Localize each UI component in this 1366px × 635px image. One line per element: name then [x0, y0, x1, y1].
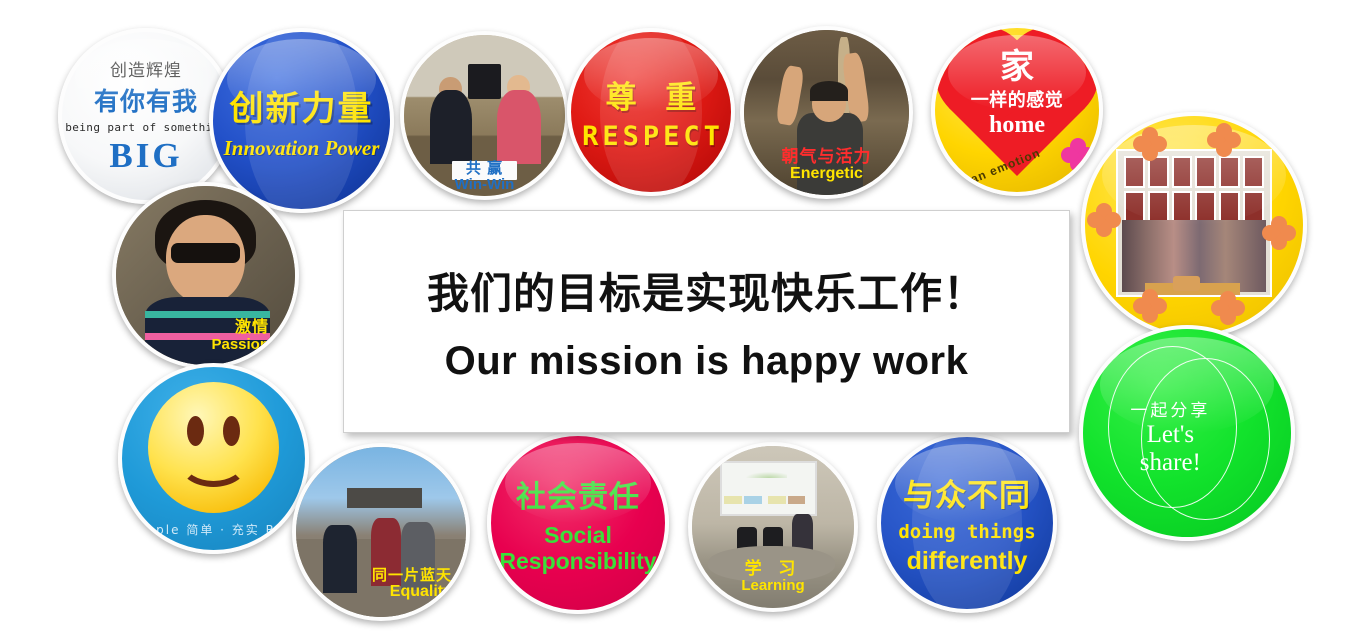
learning-caption-en: Learning — [692, 578, 854, 594]
chart-cell — [744, 496, 762, 504]
chart-cell — [724, 496, 742, 504]
person-body-right — [497, 90, 540, 164]
chart-cell — [768, 496, 786, 504]
respect-title-en: RESPECT — [578, 121, 724, 152]
mission-line-en: Our mission is happy work — [445, 339, 969, 384]
home-title-en: home — [935, 112, 1099, 139]
winwin-caption-en: Win-Win — [404, 177, 565, 193]
values-collage: 创造辉煌 有你有我 being part of something BIG 创新… — [0, 0, 1366, 635]
energetic-caption-cn: 朝气与活力 — [744, 148, 909, 166]
monitor-shape — [468, 64, 500, 99]
bubble-team-group-photo[interactable] — [1081, 112, 1307, 338]
learning-caption: 学 习 Learning — [692, 560, 854, 594]
winwin-caption: 共 赢 Win-Win — [404, 161, 565, 193]
hair-shape — [810, 81, 848, 101]
bubble-energetic[interactable]: 朝气与活力 Energetic — [740, 26, 913, 199]
bubble-social-responsibility[interactable]: 社会责任 Social Responsibility — [487, 432, 669, 614]
bubble-simple-rich[interactable]: Simple 简单 · 充实 Rich — [118, 363, 309, 554]
social-title-en-line1: Social — [499, 522, 656, 548]
big-subtitle-en: being part of something — [65, 121, 227, 134]
passion-caption-cn: 激情 — [116, 320, 269, 337]
smile-mouth — [179, 440, 248, 487]
bubble-being-part-of-something-big[interactable]: 创造辉煌 有你有我 being part of something BIG — [58, 28, 234, 204]
bubble-win-win[interactable]: 共 赢 Win-Win — [400, 31, 569, 200]
respect-title-cn: 尊 重 — [578, 72, 724, 117]
differently-line2-en: differently — [898, 547, 1035, 576]
differently-title-cn: 与众不同 — [898, 470, 1035, 515]
innovation-title-cn: 创新力量 — [224, 81, 380, 130]
home-title-cn: 家 — [935, 50, 1099, 84]
bubble-home-is-an-emotion[interactable]: 家 一样的感觉 home is an emotion — [931, 24, 1103, 196]
energetic-caption: 朝气与活力 Energetic — [744, 148, 909, 183]
differently-line1-en: doing things — [898, 521, 1035, 543]
equality-caption-en: Equality — [296, 584, 452, 601]
temple-roof-shape — [347, 488, 422, 508]
home-subtitle-cn: 一样的感觉 — [935, 86, 1099, 112]
flower-icon — [1262, 216, 1296, 250]
bubble-learning[interactable]: 学 习 Learning — [688, 442, 858, 612]
bubble-passion[interactable]: 激情 Passion — [112, 182, 299, 369]
passion-caption-en: Passion — [116, 337, 269, 353]
wall-frames-row-1 — [1124, 156, 1265, 188]
group-photo — [1116, 149, 1273, 297]
bubble-respect[interactable]: 尊 重 RESPECT — [567, 28, 735, 196]
equality-caption: 同一片蓝天 Equality — [296, 568, 466, 601]
flower-icon — [1061, 138, 1095, 172]
smiley-face-icon — [148, 382, 280, 514]
bubble-lets-share[interactable]: 一起分享 Let's share! — [1079, 325, 1295, 541]
cake-shape — [1173, 276, 1201, 290]
learning-caption-cn: 学 习 — [692, 560, 854, 578]
person-body-left — [430, 90, 472, 164]
stripe-shape — [145, 311, 270, 318]
big-title-cn-small: 创造辉煌 — [65, 56, 227, 81]
innovation-title-en: Innovation Power — [224, 136, 380, 161]
sunglasses-shape — [171, 243, 239, 263]
share-text-group: 一起分享 Let's share! — [1116, 396, 1224, 477]
flower-icon — [1207, 123, 1241, 157]
mission-statement-box: 我们的目标是实现快乐工作！ Our mission is happy work — [343, 210, 1070, 433]
flower-icon — [1211, 291, 1245, 325]
bubble-doing-things-differently[interactable]: 与众不同 doing things differently — [877, 433, 1057, 613]
wall-frames-row-2 — [1124, 191, 1265, 223]
big-title-cn: 有你有我 — [65, 82, 227, 118]
bubble-equality[interactable]: 同一片蓝天 Equality — [292, 443, 470, 621]
smile-arc-text: Simple 简单 · 充实 Rich — [122, 521, 305, 538]
equality-caption-cn: 同一片蓝天 — [296, 568, 452, 584]
energetic-caption-en: Energetic — [744, 166, 909, 183]
mission-line-cn: 我们的目标是实现快乐工作！ — [427, 260, 986, 321]
winwin-caption-cn: 共 赢 — [404, 161, 565, 177]
chart-cell — [788, 496, 806, 504]
flower-icon — [1133, 127, 1167, 161]
projector-screen — [720, 461, 817, 516]
flower-icon — [1087, 203, 1121, 237]
share-line1-en: Let's — [1116, 421, 1224, 449]
chart-curve-shape — [742, 471, 787, 478]
home-text-group: 家 一样的感觉 home — [935, 50, 1099, 139]
social-title-en-line2: Responsibility — [499, 548, 656, 574]
share-line2-en: share! — [1116, 449, 1224, 477]
share-title-cn: 一起分享 — [1116, 396, 1224, 421]
big-word: BIG — [65, 136, 227, 176]
passion-caption: 激情 Passion — [116, 320, 295, 353]
flower-icon — [1133, 289, 1167, 323]
social-title-cn: 社会责任 — [499, 472, 656, 516]
